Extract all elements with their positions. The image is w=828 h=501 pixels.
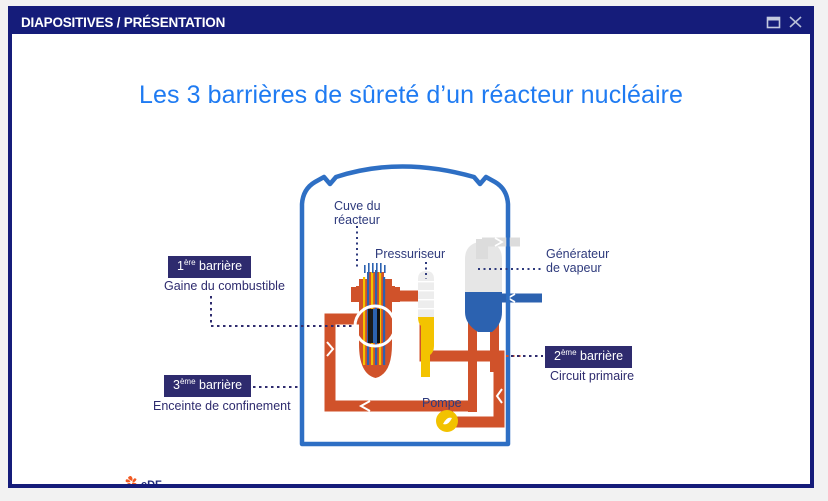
badge-barriere-2-ordinal: ème — [561, 348, 577, 357]
sublabel-barriere-3: Enceinte de confinement — [153, 399, 291, 413]
close-window-button[interactable] — [784, 12, 806, 32]
window-titlebar: DIAPOSITIVES / PRÉSENTATION — [12, 10, 810, 34]
restore-window-button[interactable] — [762, 12, 784, 32]
badge-barriere-1-number: 1 — [177, 259, 184, 273]
badge-barriere-3-ordinal: ème — [180, 377, 196, 386]
badge-barriere-3-number: 3 — [173, 378, 180, 392]
window-title: DIAPOSITIVES / PRÉSENTATION — [21, 15, 225, 30]
steam-generator — [465, 238, 542, 332]
pump — [436, 410, 458, 432]
edf-logo-text: eDF — [141, 479, 162, 484]
badge-barriere-2: 2ème barrière — [545, 346, 632, 368]
label-cuve-line1: Cuve du — [334, 199, 381, 213]
label-generateur-line1: Générateur — [546, 247, 609, 261]
edf-pinwheel-icon — [126, 476, 137, 484]
badge-barriere-1-word: barrière — [196, 259, 243, 273]
label-cuve-line2: réacteur — [334, 213, 381, 227]
badge-barriere-1: 1ère barrière — [168, 256, 251, 278]
restore-window-icon — [766, 16, 781, 29]
sublabel-barriere-1: Gaine du combustible — [164, 279, 285, 293]
close-window-icon — [788, 15, 803, 29]
label-pressuriseur-line1: Pressuriseur — [375, 247, 445, 261]
badge-barriere-1-ordinal: ère — [184, 258, 196, 267]
label-generateur-line2: de vapeur — [546, 261, 609, 275]
edf-logo: eDF — [120, 472, 168, 484]
sublabel-barriere-2: Circuit primaire — [550, 369, 634, 383]
badge-barriere-2-number: 2 — [554, 349, 561, 363]
primary-circuit-cold-leg — [330, 319, 477, 406]
presentation-window: DIAPOSITIVES / PRÉSENTATION Les 3 barriè… — [8, 6, 814, 488]
label-cuve-du-reacteur: Cuve du réacteur — [334, 199, 381, 227]
label-pressuriseur: Pressuriseur — [375, 247, 445, 261]
label-pompe-line1: Pompe — [422, 396, 462, 410]
screenshot-root: DIAPOSITIVES / PRÉSENTATION Les 3 barriè… — [0, 0, 828, 501]
badge-barriere-3: 3ème barrière — [164, 375, 251, 397]
badge-barriere-2-word: barrière — [577, 349, 624, 363]
label-generateur-de-vapeur: Générateur de vapeur — [546, 247, 609, 275]
badge-barriere-3-word: barrière — [196, 378, 243, 392]
slide-canvas: Les 3 barrières de sûreté d’un réacteur … — [12, 34, 810, 484]
label-pompe: Pompe — [422, 396, 462, 410]
